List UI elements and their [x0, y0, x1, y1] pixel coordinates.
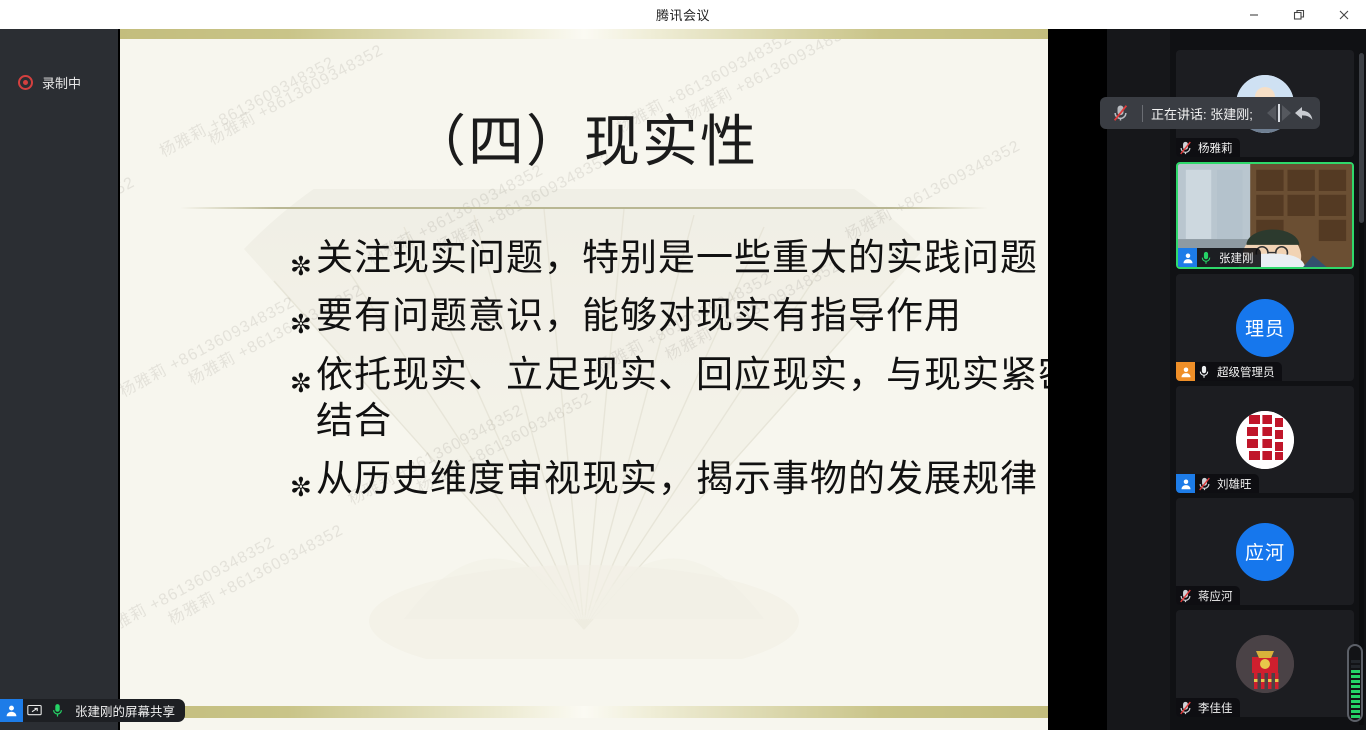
- level-bar: [1351, 685, 1360, 688]
- slide-bullet-item: ✼ 依托现实、立足现实、回应现实，与现实紧密结合: [290, 352, 1048, 445]
- slide-top-accent-bar: [120, 29, 1048, 39]
- bullet-marker-icon: ✼: [290, 293, 316, 337]
- shared-slide: 杨雅莉 +8613609348352杨雅莉 +8613609348352杨雅莉 …: [120, 29, 1048, 730]
- level-bar: [1351, 675, 1360, 678]
- window-controls: [1231, 0, 1366, 29]
- level-bar: [1351, 705, 1360, 708]
- level-bar: [1351, 710, 1360, 713]
- avatar: 应河: [1236, 523, 1294, 581]
- participant-rail[interactable]: 杨雅莉: [1170, 29, 1366, 730]
- participant-name-bar: 刘雄旺: [1176, 474, 1259, 493]
- collapse-arrows-icon[interactable]: [1265, 102, 1291, 124]
- avatar: [1236, 411, 1294, 469]
- stage-side-panel: [1107, 29, 1170, 730]
- active-speaker-pill: 正在讲话: 张建刚;: [1100, 97, 1320, 129]
- participant-name: 杨雅莉: [1198, 140, 1233, 156]
- level-bar: [1351, 660, 1360, 663]
- level-bar: [1351, 665, 1360, 668]
- participant-tile[interactable]: 应河 蒋应河: [1176, 498, 1354, 605]
- participant-name-bar: 张建刚: [1178, 248, 1261, 267]
- participant-name: 李佳佳: [1198, 700, 1233, 716]
- participant-name: 刘雄旺: [1217, 476, 1252, 492]
- participant-tile[interactable]: 刘雄旺: [1176, 386, 1354, 493]
- record-dot-icon: [18, 75, 33, 90]
- bullet-text: 从历史维度审视现实，揭示事物的发展规律: [316, 456, 1038, 502]
- slide-bottom-accent-bar: [120, 706, 1048, 718]
- watermark-row: 杨雅莉 +8613609348352杨雅莉 +8613609348352杨雅莉 …: [120, 39, 1048, 42]
- participant-name-bar: 李佳佳: [1176, 698, 1240, 717]
- bullet-text: 要有问题意识，能够对现实有指导作用: [316, 293, 962, 339]
- slide-title: （四）现实性: [120, 111, 1048, 173]
- active-speaker-label: 正在讲话: 张建刚;: [1151, 104, 1253, 123]
- minimize-button[interactable]: [1231, 0, 1276, 29]
- bullet-marker-icon: ✼: [290, 456, 316, 500]
- pill-divider: [1142, 105, 1143, 122]
- mic-on-icon: [46, 699, 69, 722]
- mic-muted-icon: [1176, 141, 1194, 155]
- mic-muted-icon: [1195, 477, 1213, 491]
- left-dark-strip: [0, 29, 118, 730]
- bullet-text: 依托现实、立足现实、回应现实，与现实紧密结合: [316, 352, 1048, 445]
- person-icon: [0, 699, 23, 722]
- avatar-photo-icon: [1236, 635, 1294, 693]
- bullet-marker-icon: ✼: [290, 235, 316, 279]
- participant-name-bar: 超级管理员: [1176, 362, 1282, 381]
- restore-button[interactable]: [1276, 0, 1321, 29]
- rail-scrollbar-thumb[interactable]: [1359, 53, 1364, 223]
- participant-tile-active[interactable]: 张建刚: [1176, 162, 1354, 269]
- level-bar: [1351, 680, 1360, 683]
- close-button[interactable]: [1321, 0, 1366, 29]
- person-icon: [1176, 474, 1195, 493]
- participant-name: 蒋应河: [1198, 588, 1233, 604]
- participant-name-bar: 蒋应河: [1176, 586, 1240, 605]
- participant-name: 超级管理员: [1217, 364, 1275, 380]
- level-bar: [1351, 670, 1360, 673]
- slide-bullet-item: ✼ 要有问题意识，能够对现实有指导作用: [290, 293, 1048, 339]
- app-title: 腾讯会议: [656, 5, 710, 24]
- level-bar: [1351, 695, 1360, 698]
- participant-name: 张建刚: [1219, 250, 1254, 266]
- level-bar: [1351, 715, 1360, 718]
- host-person-icon: [1176, 362, 1195, 381]
- screen-share-label: 张建刚的屏幕共享: [75, 701, 175, 720]
- avatar: 理员: [1236, 299, 1294, 357]
- pill-actions[interactable]: [1265, 102, 1314, 124]
- slide-title-divider: [180, 207, 988, 209]
- avatar-initials: 理员: [1245, 314, 1285, 341]
- bullet-marker-icon: ✼: [290, 352, 316, 396]
- slide-body: 杨雅莉 +8613609348352杨雅莉 +8613609348352杨雅莉 …: [120, 39, 1048, 706]
- mic-on-icon: [1195, 365, 1213, 379]
- mic-muted-icon: [1176, 589, 1194, 603]
- recording-indicator: 录制中: [18, 73, 81, 92]
- meeting-stage: 录制中: [0, 29, 1366, 730]
- recording-label: 录制中: [42, 73, 81, 92]
- person-icon: [1178, 248, 1197, 267]
- level-bar: [1351, 700, 1360, 703]
- bullet-text: 关注现实问题，特别是一些重大的实践问题: [316, 235, 1038, 281]
- slide-bullet-item: ✼ 从历史维度审视现实，揭示事物的发展规律: [290, 456, 1048, 502]
- mic-on-icon: [1197, 251, 1215, 265]
- window-title-bar: 腾讯会议: [0, 0, 1366, 29]
- screen-share-status-chip: 张建刚的屏幕共享: [0, 699, 185, 722]
- participant-tile[interactable]: 理员 超级管理员: [1176, 274, 1354, 381]
- audio-level-meter: [1347, 644, 1363, 722]
- mic-muted-icon: [1106, 104, 1134, 122]
- participant-name-bar: 杨雅莉: [1176, 138, 1240, 157]
- slide-bullet-item: ✼ 关注现实问题，特别是一些重大的实践问题: [290, 235, 1048, 281]
- undo-arrow-icon[interactable]: [1294, 103, 1314, 123]
- screen-share-icon: [23, 699, 46, 722]
- avatar: [1236, 635, 1294, 693]
- avatar-initials: 应河: [1245, 538, 1285, 565]
- participant-tile[interactable]: 李佳佳: [1176, 610, 1354, 717]
- level-bar: [1351, 690, 1360, 693]
- slide-bullet-list: ✼ 关注现实问题，特别是一些重大的实践问题 ✼ 要有问题意识，能够对现实有指导作…: [290, 235, 1048, 514]
- avatar-photo-icon: [1236, 411, 1294, 469]
- mic-muted-icon: [1176, 701, 1194, 715]
